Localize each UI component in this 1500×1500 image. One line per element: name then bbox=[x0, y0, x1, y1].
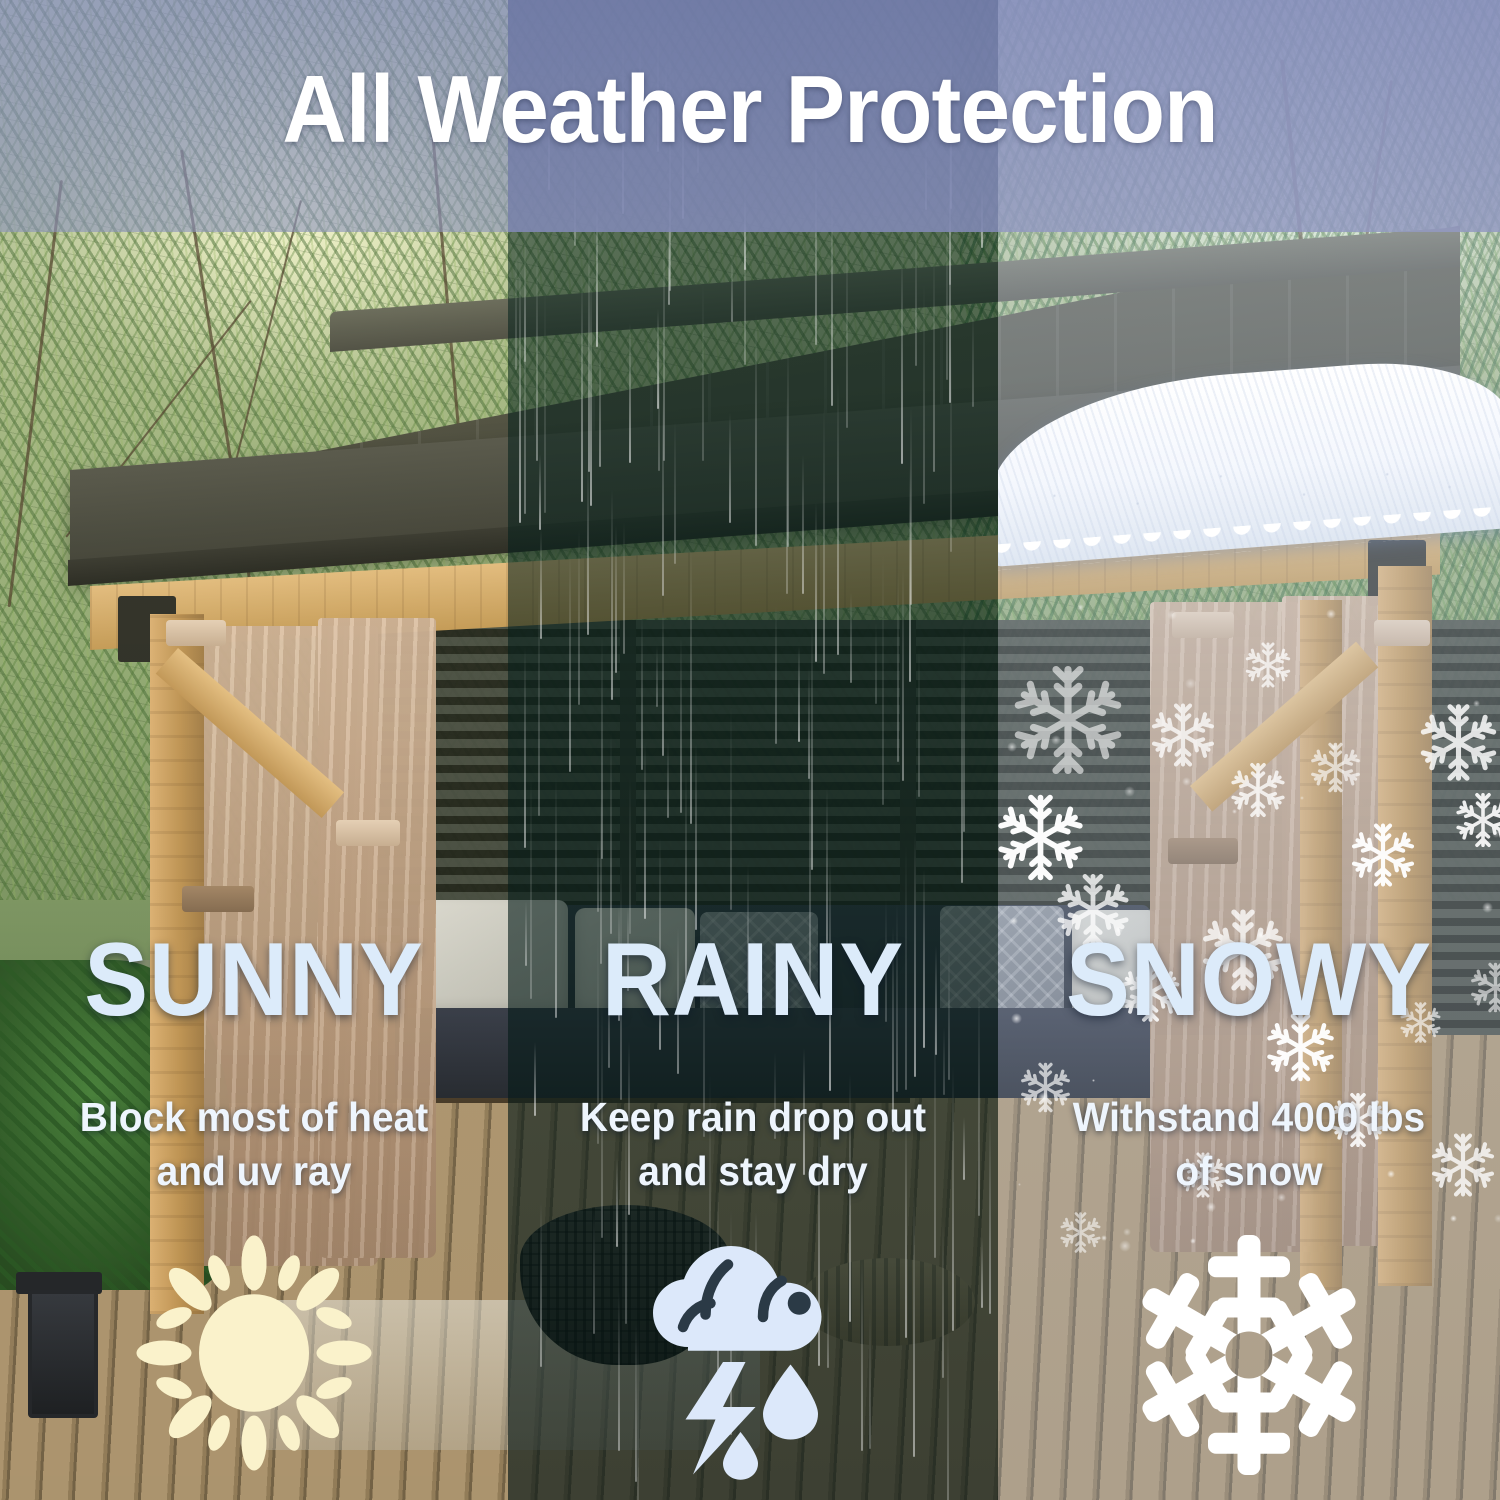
heading-sunny: SUNNY bbox=[20, 928, 487, 1032]
product-feature-image: SUNNY Block most of heat and uv ray bbox=[0, 0, 1500, 1500]
snow-sparkle bbox=[1330, 743, 1338, 751]
heading-rainy: RAINY bbox=[528, 928, 979, 1032]
snow-sparkle bbox=[1007, 742, 1017, 752]
snow-sparkle bbox=[1326, 609, 1336, 619]
snow-sparkle bbox=[1232, 809, 1237, 814]
snow-sparkle bbox=[1167, 610, 1177, 620]
snow-sparkle bbox=[1492, 830, 1500, 838]
caption-sunny: Block most of heat and uv ray bbox=[13, 1090, 496, 1198]
caption-line: and stay dry bbox=[520, 1144, 986, 1198]
snow-sparkle bbox=[1092, 1079, 1095, 1082]
snow-sparkle bbox=[1494, 1214, 1500, 1223]
snow-sparkle bbox=[1450, 1215, 1457, 1222]
snowflake-icon bbox=[1118, 1230, 1380, 1480]
rain-cloud-lightning-icon bbox=[638, 1232, 868, 1482]
caption-line: Block most of heat bbox=[13, 1090, 496, 1144]
snow-sparkle bbox=[1473, 700, 1480, 707]
snow-sparkle bbox=[1182, 777, 1191, 786]
snow-sparkle bbox=[1460, 564, 1463, 567]
caption-snowy: Withstand 4000 lbs of snow bbox=[1011, 1090, 1488, 1198]
snow-sparkle bbox=[1300, 796, 1304, 800]
caption-line: Keep rain drop out bbox=[520, 1090, 986, 1144]
snow-sparkle bbox=[1185, 678, 1196, 689]
sun-icon bbox=[129, 1228, 379, 1478]
heading-snowy: SNOWY bbox=[1018, 928, 1480, 1032]
snow-sparkle bbox=[1429, 712, 1436, 719]
caption-line: of snow bbox=[1011, 1144, 1488, 1198]
page-title: All Weather Protection bbox=[53, 62, 1448, 158]
sunny-icon-wrap bbox=[0, 1228, 508, 1478]
snowy-icon-wrap bbox=[998, 1230, 1500, 1480]
snow-sparkle bbox=[1010, 917, 1018, 925]
snow-sparkle bbox=[1051, 735, 1061, 745]
caption-line: and uv ray bbox=[13, 1144, 496, 1198]
caption-rainy: Keep rain drop out and stay dry bbox=[520, 1090, 986, 1198]
caption-line: Withstand 4000 lbs bbox=[1011, 1090, 1488, 1144]
snow-sparkle bbox=[1124, 786, 1135, 797]
snow-sparkle bbox=[1482, 902, 1493, 913]
snow-sparkle bbox=[1077, 604, 1084, 611]
rainy-icon-wrap bbox=[508, 1232, 998, 1482]
snow-sparkle bbox=[1230, 587, 1234, 591]
snow-sparkle bbox=[1206, 1202, 1216, 1212]
